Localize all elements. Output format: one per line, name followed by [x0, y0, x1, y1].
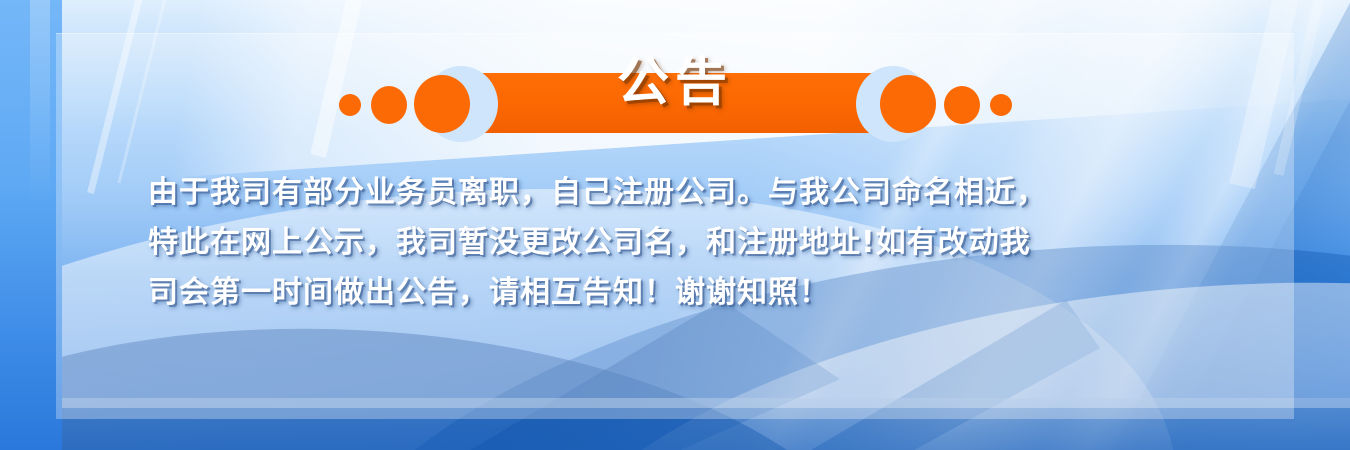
- announcement-text: 由于我司有部分业务员离职，自己注册公司。与我公司命名相近， 特此在网上公示，我司…: [148, 168, 1233, 318]
- banner-title: 公告: [0, 52, 1350, 114]
- announcement-line-2: 特此在网上公示，我司暂没更改公司名，和注册地址!如有改动我: [148, 218, 1233, 268]
- announcement-banner: 公告 由于我司有部分业务员离职，自己注册公司。与我公司命名相近， 特此在网上公示…: [0, 0, 1350, 450]
- announcement-line-1: 由于我司有部分业务员离职，自己注册公司。与我公司命名相近，: [148, 168, 1233, 218]
- announcement-line-3: 司会第一时间做出公告，请相互告知！谢谢知照！: [148, 268, 1233, 318]
